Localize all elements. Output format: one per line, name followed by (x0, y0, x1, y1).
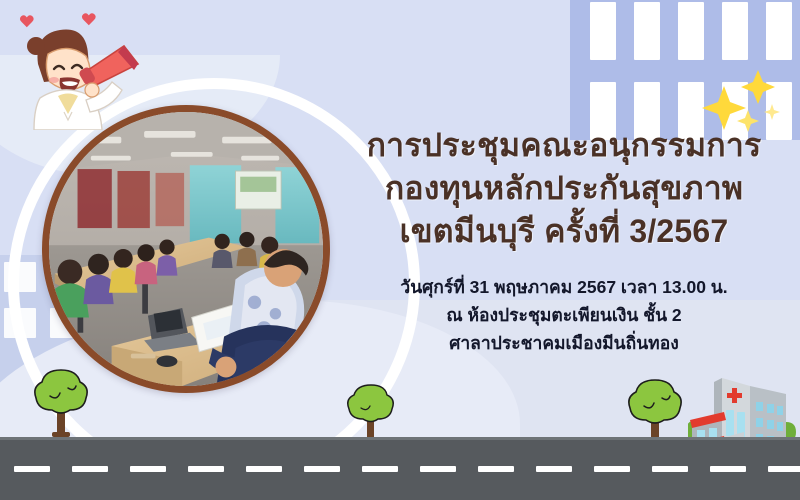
title-line-2: กองทุนหลักประกันสุขภาพ (330, 167, 798, 210)
tree-left-icon (30, 366, 92, 440)
road-dash (594, 466, 630, 472)
road-center-dashes (0, 466, 800, 472)
heart-icon (20, 15, 34, 27)
road-dash (304, 466, 340, 472)
title-line-1: การประชุมคณะอนุกรรมการ (330, 124, 798, 167)
event-datetime-line: วันศุกร์ที่ 31 พฤษภาคม 2567 เวลา 13.00 น… (330, 273, 798, 301)
road-dash (536, 466, 572, 472)
page-title: การประชุมคณะอนุกรรมการ กองทุนหลักประกันส… (330, 124, 798, 253)
event-venue-room-line: ณ ห้องประชุมตะเพียนเงิน ชั้น 2 (330, 301, 798, 329)
road-dash (14, 466, 50, 472)
road-dash (420, 466, 456, 472)
tree-middle-icon (344, 382, 398, 444)
event-details: วันศุกร์ที่ 31 พฤษภาคม 2567 เวลา 13.00 น… (330, 273, 798, 358)
announcement-text-block: การประชุมคณะอนุกรรมการ กองทุนหลักประกันส… (330, 124, 798, 358)
meeting-room-photo (42, 105, 330, 393)
road-dash (478, 466, 514, 472)
poster-canvas: การประชุมคณะอนุกรรมการ กองทุนหลักประกันส… (0, 0, 800, 500)
road-dash (246, 466, 282, 472)
window (634, 2, 660, 60)
title-line-3: เขตมีนบุรี ครั้งที่ 3/2567 (330, 210, 798, 253)
road-dash (188, 466, 224, 472)
window (722, 2, 748, 60)
window (590, 2, 616, 60)
road-dash (652, 466, 688, 472)
road-edge (0, 437, 800, 440)
road-dash (710, 466, 746, 472)
road-dash (72, 466, 108, 472)
road-dash (768, 466, 800, 472)
window (766, 2, 792, 60)
window (678, 2, 704, 60)
road-dash (362, 466, 398, 472)
doctor-with-megaphone-illustration (12, 12, 144, 130)
event-venue-building-line: ศาลาประชาคมเมืองมีนถิ่นทอง (330, 329, 798, 357)
road-dash (130, 466, 166, 472)
heart-icon (82, 13, 96, 25)
